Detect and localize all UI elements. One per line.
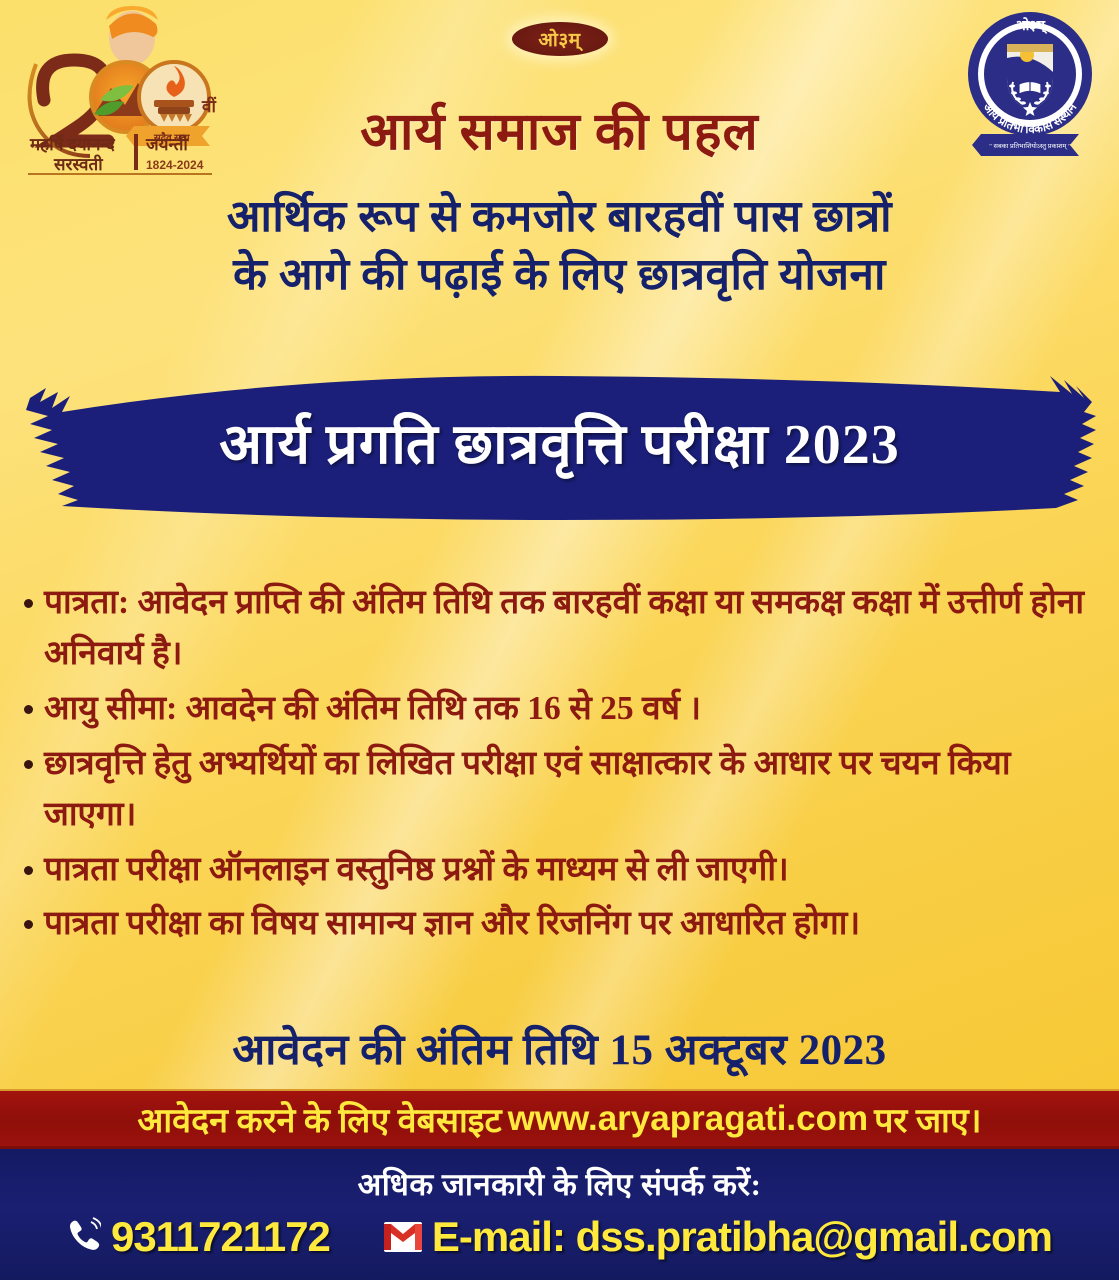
email-contact[interactable]: E-mail: dss.pratibha@gmail.com (384, 1213, 1052, 1261)
phone-icon (67, 1217, 101, 1257)
bullet-text: छात्रवृत्ति हेतु अभ्यर्थियों का लिखित पर… (44, 739, 1097, 841)
website-prefix-text: आवेदन करने के लिए वेबसाइट (137, 1096, 501, 1142)
email-address[interactable]: E-mail: dss.pratibha@gmail.com (432, 1213, 1052, 1261)
list-item: पात्रता परीक्षा ऑनलाइन वस्तुनिष्ठ प्रश्न… (22, 845, 1097, 896)
bullet-dot (24, 705, 33, 714)
subtitle-line-1: आर्थिक रूप से कमजोर बारहवीं पास छात्रों (0, 188, 1119, 246)
eligibility-bullet-list: पात्रता: आवेदन प्राप्ति की अंतिम तिथि तक… (0, 578, 1119, 954)
poster-title: आर्य समाज की पहल (0, 94, 1119, 165)
seal-om-text: ओ३म् (1015, 17, 1048, 34)
contact-heading: अधिक जानकारी के लिए संपर्क करें: (0, 1163, 1119, 1205)
om-symbol-text: ओ३म् (538, 26, 580, 52)
bullet-text: पात्रता परीक्षा ऑनलाइन वस्तुनिष्ठ प्रश्न… (44, 845, 1097, 896)
list-item: आयु सीमा: आवदेन की अंतिम तिथि तक 16 से 2… (22, 684, 1097, 735)
bullet-dot (24, 760, 33, 769)
list-item: पात्रता: आवेदन प्राप्ति की अंतिम तिथि तक… (22, 578, 1097, 680)
list-item: पात्रता परीक्षा का विषय सामान्य ज्ञान और… (22, 899, 1097, 950)
bullet-text: पात्रता परीक्षा का विषय सामान्य ज्ञान और… (44, 899, 1097, 950)
website-suffix-text: पर जाए। (874, 1096, 981, 1142)
banner-title-text: आर्य प्रगति छात्रवृत्ति परीक्षा 2023 (0, 404, 1119, 480)
contact-bar: अधिक जानकारी के लिए संपर्क करें: 9311721… (0, 1146, 1119, 1280)
bullet-dot (24, 920, 33, 929)
poster-header: वीं सदैव सत्य महर्षि दयानन्द सरस्वती जयन… (0, 0, 1119, 352)
application-deadline: आवेदन की अंतिम तिथि 15 अक्टूबर 2023 (0, 1018, 1119, 1077)
contact-details-row: 9311721172 E-mail: dss.pratibha@gmail.co… (0, 1213, 1119, 1261)
bullet-dot (24, 866, 33, 875)
scholarship-poster: वीं सदैव सत्य महर्षि दयानन्द सरस्वती जयन… (0, 0, 1119, 1280)
website-url-link[interactable]: www.aryapragati.com (502, 1099, 875, 1139)
bullet-text: आयु सीमा: आवदेन की अंतिम तिथि तक 16 से 2… (44, 684, 1097, 735)
phone-number[interactable]: 9311721172 (111, 1213, 330, 1261)
gmail-icon (384, 1222, 422, 1252)
exam-title-banner: आर्य प्रगति छात्रवृत्ति परीक्षा 2023 (0, 368, 1119, 528)
website-bar[interactable]: आवेदन करने के लिए वेबसाइट www.aryapragat… (0, 1089, 1119, 1146)
poster-subtitle: आर्थिक रूप से कमजोर बारहवीं पास छात्रों … (0, 188, 1119, 304)
subtitle-line-2: के आगे की पढ़ाई के लिए छात्रवृति योजना (0, 246, 1119, 304)
phone-contact[interactable]: 9311721172 (67, 1213, 330, 1261)
bullet-dot (24, 599, 33, 608)
bullet-text: पात्रता: आवेदन प्राप्ति की अंतिम तिथि तक… (44, 578, 1097, 680)
om-symbol-badge: ओ३म् (512, 22, 608, 56)
list-item: छात्रवृत्ति हेतु अभ्यर्थियों का लिखित पर… (22, 739, 1097, 841)
